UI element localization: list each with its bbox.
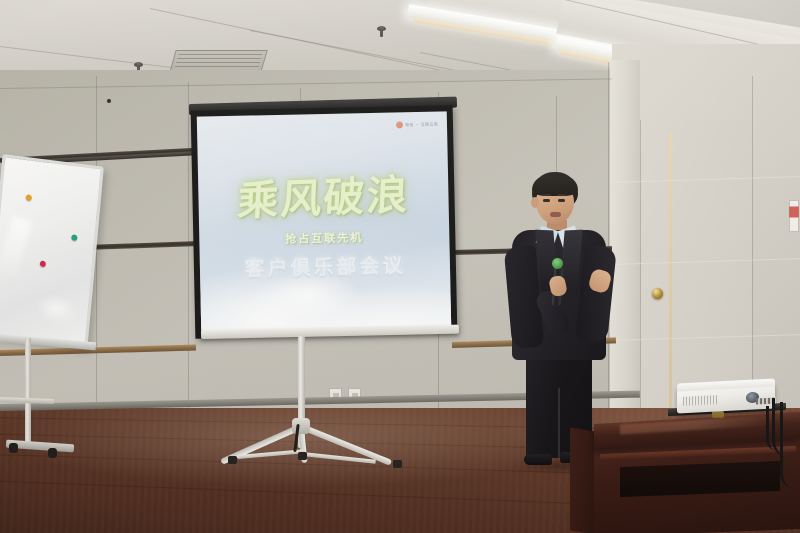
slide-meeting-name: 客户俱乐部会议 <box>200 248 451 282</box>
whiteboard-glare <box>0 215 32 284</box>
magnet-red[interactable] <box>40 260 47 267</box>
presenter-eye-right <box>558 199 565 202</box>
slide-logo-mark <box>396 121 403 128</box>
wall-seam-v7 <box>752 76 753 416</box>
whiteboard[interactable] <box>0 154 104 348</box>
slide-logo: 电信 ・ 互联云商 <box>396 121 438 129</box>
screen-ceiling-hook <box>107 99 111 103</box>
conference-room-photo: 电信 ・ 互联云商 乘风破浪 抢占互联先机 客户俱乐部会议 <box>0 0 800 533</box>
tripod-foot-left <box>228 456 237 464</box>
tripod-foot-back <box>298 452 307 460</box>
slide-logo-text: 电信 ・ 互联云商 <box>405 121 438 128</box>
whiteboard-glare-2 <box>35 292 79 325</box>
sprinkler-icon <box>134 62 143 67</box>
presenter-brow-left <box>542 194 551 196</box>
slide-main-title: 乘风破浪 <box>198 173 450 224</box>
whiteboard-stand-post <box>25 338 31 446</box>
magnet-orange[interactable] <box>26 194 33 201</box>
projected-slide: 电信 ・ 互联云商 乘风破浪 抢占互联先机 客户俱乐部会议 <box>197 111 451 330</box>
projector-vent-grille <box>683 395 717 406</box>
presenter-brow-right <box>557 194 566 196</box>
projection-screen-assembly: 电信 ・ 互联云商 乘风破浪 抢占互联先机 客户俱乐部会议 <box>193 108 455 336</box>
desk-recess <box>620 461 780 497</box>
presenter-mouth <box>550 212 561 217</box>
door-knob-icon[interactable] <box>652 288 663 299</box>
projector-cable-2 <box>780 402 794 488</box>
magnet-green[interactable] <box>71 234 78 241</box>
microphone-head-icon <box>552 258 563 269</box>
screen-frame: 电信 ・ 互联云商 乘风破浪 抢占互联先机 客户俱乐部会议 <box>191 105 458 338</box>
presenter-leg-seam <box>558 388 560 458</box>
presenter-shoe-left <box>524 454 552 465</box>
projector-cable-3 <box>766 406 776 450</box>
whiteboard-caster <box>9 443 18 453</box>
whiteboard-caster <box>48 448 57 458</box>
presenter-hair-front <box>532 176 578 196</box>
projector-foot <box>712 411 724 418</box>
ceiling-panel-seam-d <box>0 46 199 71</box>
tripod-foot-right <box>393 460 402 468</box>
sprinkler-icon <box>377 26 386 31</box>
wall-sign <box>789 200 799 232</box>
presenter-eye-left <box>543 199 550 202</box>
presenter-ear <box>531 197 539 208</box>
